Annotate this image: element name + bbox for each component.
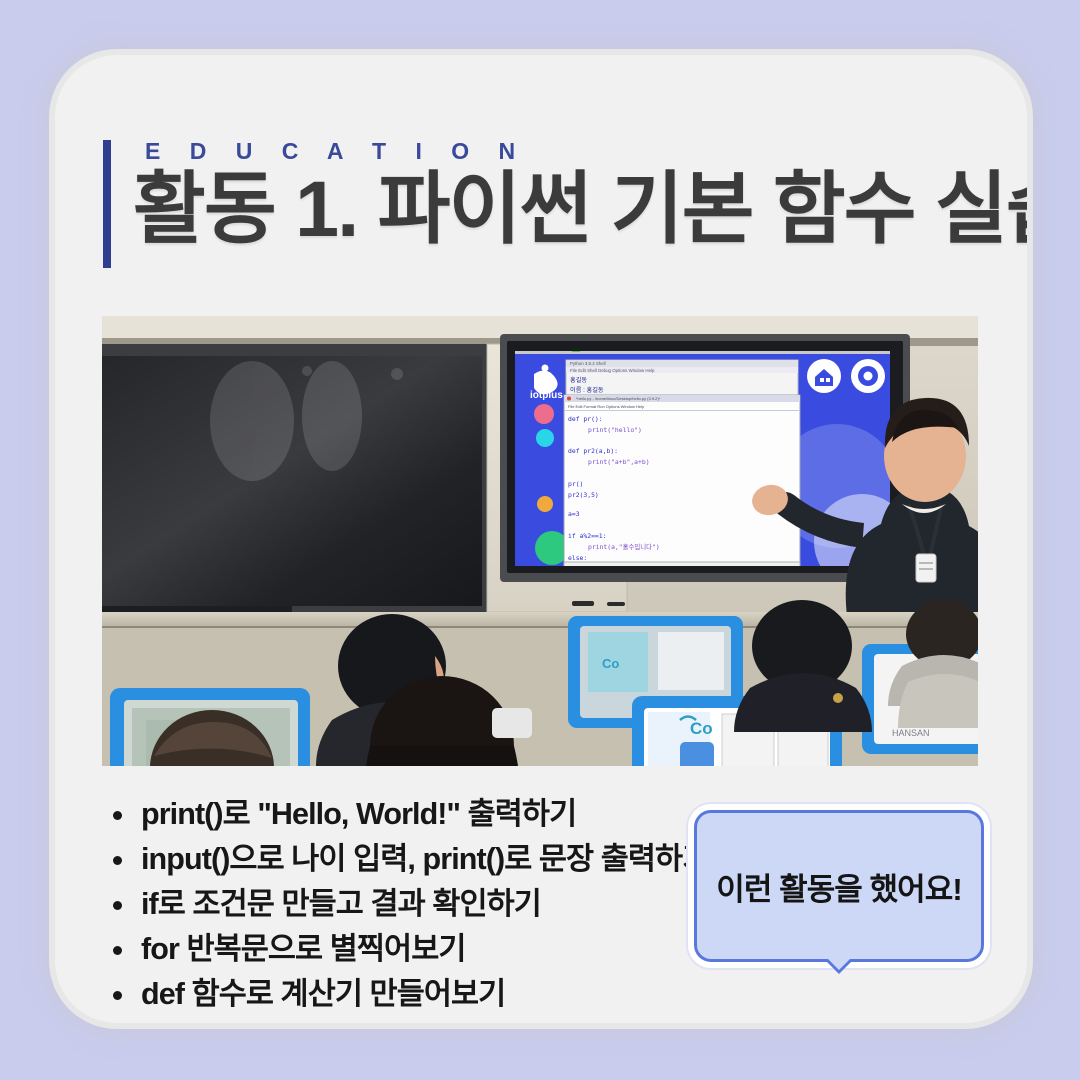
svg-text:이름 : 홍길동: 이름 : 홍길동: [570, 386, 604, 394]
svg-text:a=3: a=3: [568, 510, 580, 518]
svg-text:Python 3.9.2 Shell: Python 3.9.2 Shell: [570, 361, 606, 366]
svg-text:print("hello"): print("hello"): [588, 426, 642, 434]
svg-text:*hello.py - /home/linux/Deskto: *hello.py - /home/linux/Desktop/hello.py…: [576, 396, 661, 401]
svg-text:pr(): pr(): [568, 480, 583, 488]
accent-bar: [103, 140, 111, 268]
svg-text:print(a,"홀수입니다"): print(a,"홀수입니다"): [588, 542, 660, 551]
callout-bubble: 이런 활동을 했어요!: [694, 810, 984, 962]
header: E D U C A T I O N 활동 1. 파이썬 기본 함수 실습: [103, 135, 983, 335]
list-item: for 반복문으로 별찍어보기: [103, 927, 713, 972]
svg-text:Co: Co: [690, 719, 713, 738]
list-item: if로 조건문 만들고 결과 확인하기: [103, 882, 713, 927]
photo-illustration: iotplus Python 3.9.2 Shell: [102, 316, 978, 766]
svg-text:File Edit Format Run Options W: File Edit Format Run Options Window Help: [568, 404, 645, 409]
list-item: print()로 "Hello, World!" 출력하기: [103, 792, 713, 837]
svg-text:if a%2==1:: if a%2==1:: [568, 532, 606, 540]
svg-text:HANSAN: HANSAN: [892, 728, 930, 738]
svg-text:iotplus: iotplus: [530, 390, 563, 401]
svg-text:def pr():: def pr():: [568, 415, 603, 423]
svg-text:Co: Co: [602, 656, 619, 671]
content-card: E D U C A T I O N 활동 1. 파이썬 기본 함수 실습: [55, 55, 1027, 1023]
classroom-photo: iotplus Python 3.9.2 Shell: [102, 316, 978, 766]
list-item: def 함수로 계산기 만들어보기: [103, 972, 713, 1017]
page-title: 활동 1. 파이썬 기본 함수 실습: [133, 160, 1027, 259]
svg-text:def pr2(a,b):: def pr2(a,b):: [568, 447, 618, 455]
list-item: input()으로 나이 입력, print()로 문장 출력하기: [103, 837, 713, 882]
svg-text:File Edit Shell Debug Options: File Edit Shell Debug Options Window Hel…: [570, 368, 655, 373]
callout-text: 이런 활동을 했어요!: [697, 813, 981, 959]
svg-text:else:: else:: [568, 554, 587, 562]
callout-tail-icon: [824, 959, 854, 974]
activity-list: print()로 "Hello, World!" 출력하기 input()으로 …: [103, 792, 713, 1017]
svg-text:print("a+b",a+b): print("a+b",a+b): [588, 458, 650, 466]
svg-text:pr2(3,5): pr2(3,5): [568, 491, 599, 499]
svg-text:홍길동: 홍길동: [570, 376, 587, 384]
